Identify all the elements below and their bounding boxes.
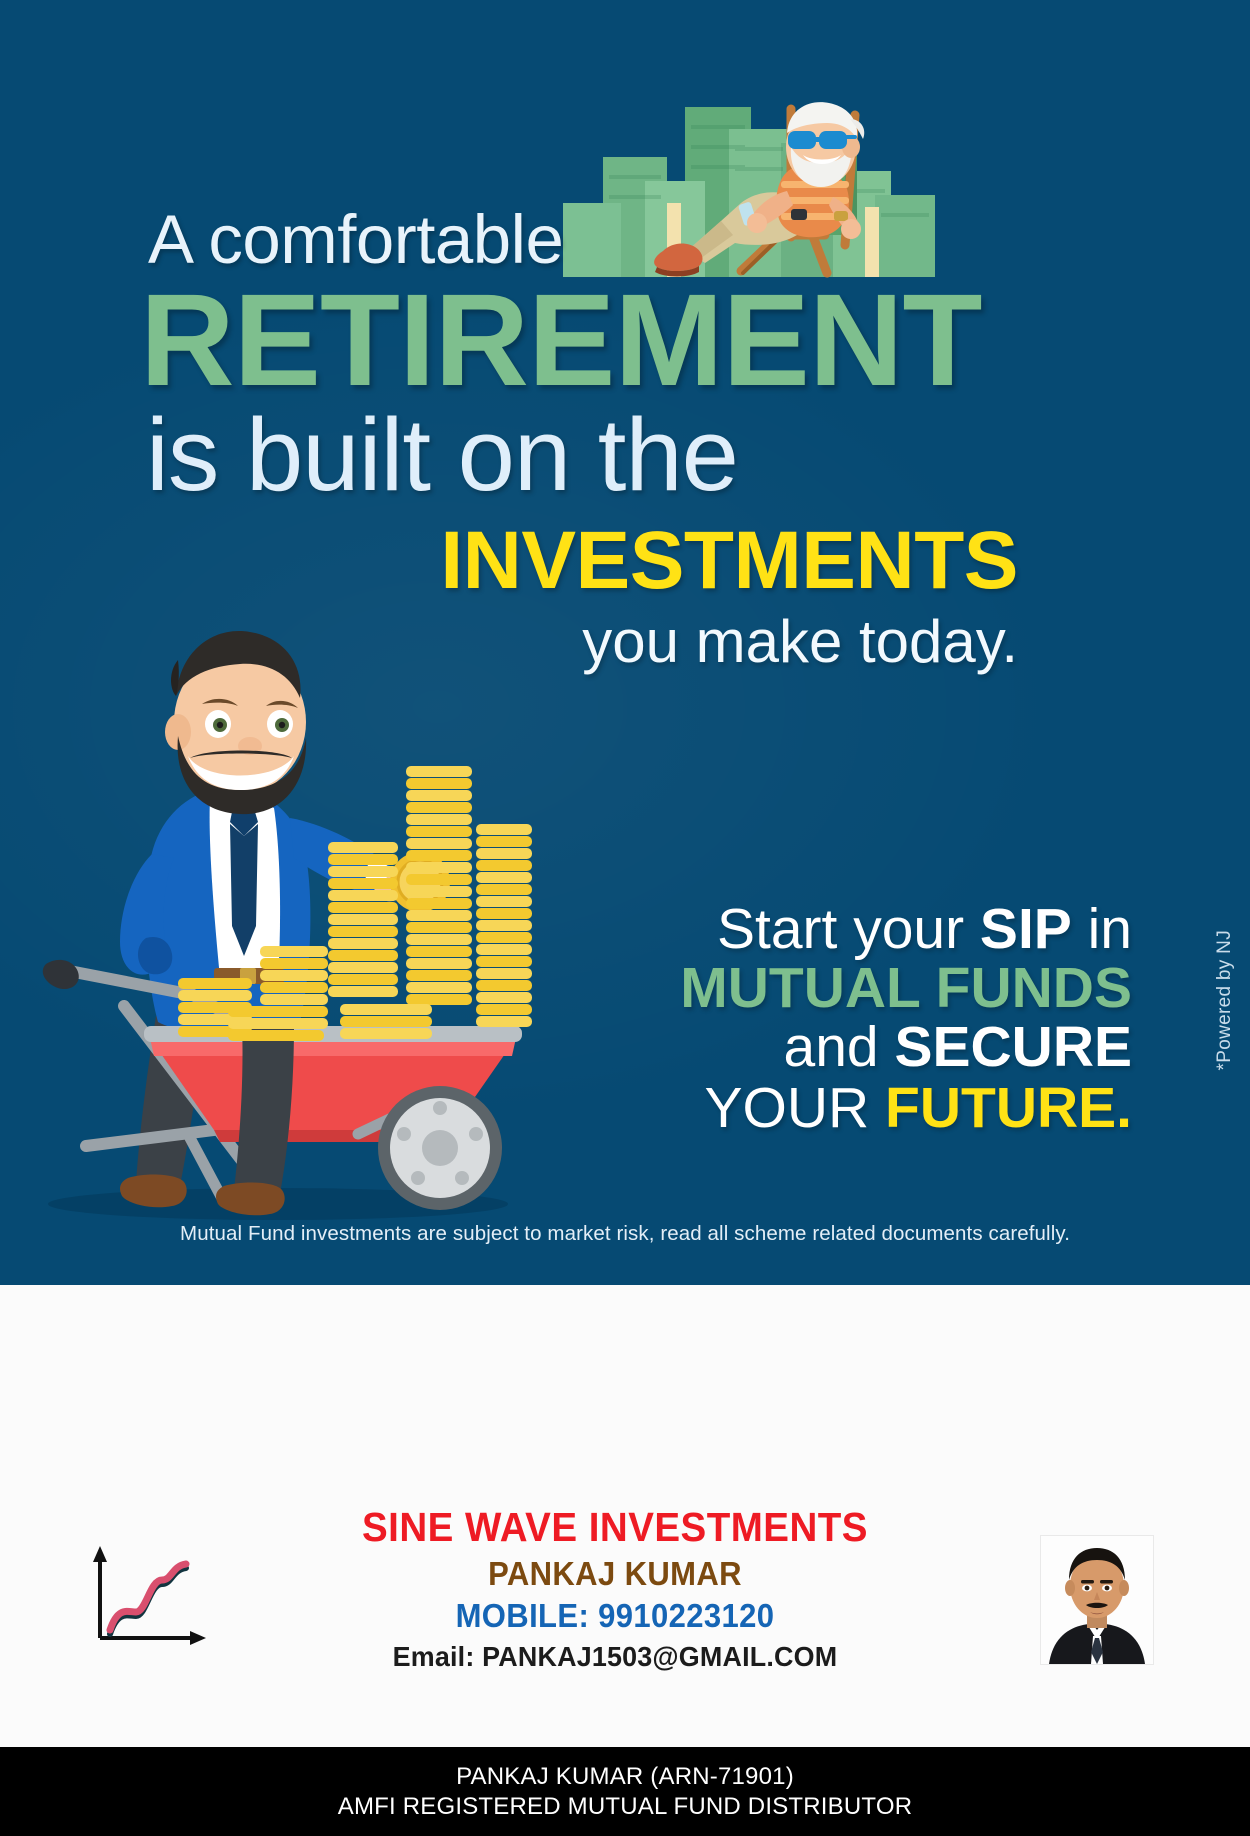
cta-line3-part-a: and	[784, 1015, 895, 1079]
retirement-sip-poster: A comfortable RETIREMENT is built on the…	[0, 0, 1250, 1836]
cta-block: Start your SIP in MUTUAL FUNDS and SECUR…	[572, 900, 1132, 1138]
footer-amfi-line: AMFI REGISTERED MUTUAL FUND DISTRIBUTOR	[338, 1793, 913, 1821]
cta-future-emphasis: FUTURE.	[885, 1076, 1132, 1140]
cta-secure-emphasis: SECURE	[894, 1015, 1132, 1079]
footer-arn-line: PANKAJ KUMAR (ARN-71901)	[456, 1763, 794, 1791]
cta-line1-part-b: in	[1072, 897, 1132, 961]
advisor-mobile[interactable]: MOBILE: 9910223120	[272, 1597, 958, 1635]
cta-line-1: Start your SIP in	[572, 900, 1132, 959]
risk-disclaimer: Mutual Fund investments are subject to m…	[0, 1222, 1250, 1246]
advisor-details: SINE WAVE INVESTMENTS PANKAJ KUMAR MOBIL…	[250, 1505, 980, 1673]
cta-line1-part-a: Start your	[717, 897, 980, 961]
headline-line-1: A comfortable	[148, 205, 1130, 274]
cta-line-4: YOUR FUTURE.	[572, 1078, 1132, 1138]
cta-line-3: and SECURE	[572, 1017, 1132, 1077]
investor-illustration	[28, 586, 548, 1226]
advisor-portrait	[1041, 1536, 1153, 1664]
hero-panel: A comfortable RETIREMENT is built on the…	[0, 0, 1250, 1285]
growth-sine-chart-icon	[78, 1540, 208, 1655]
cta-line4-part-a: YOUR	[704, 1076, 885, 1140]
advisor-email[interactable]: Email: PANKAJ1503@GMAIL.COM	[265, 1641, 966, 1673]
powered-by-label: *Powered by NJ	[1214, 930, 1236, 1070]
headline-line-3: is built on the	[146, 403, 1130, 506]
firm-name: SINE WAVE INVESTMENTS	[272, 1505, 958, 1551]
regulatory-footer: PANKAJ KUMAR (ARN-71901) AMFI REGISTERED…	[0, 1747, 1250, 1836]
advisor-name: PANKAJ KUMAR	[272, 1555, 958, 1593]
headline-line-2: RETIREMENT	[140, 280, 1130, 401]
cta-sip-emphasis: SIP	[980, 897, 1072, 961]
cta-line-2: MUTUAL FUNDS	[572, 959, 1132, 1018]
